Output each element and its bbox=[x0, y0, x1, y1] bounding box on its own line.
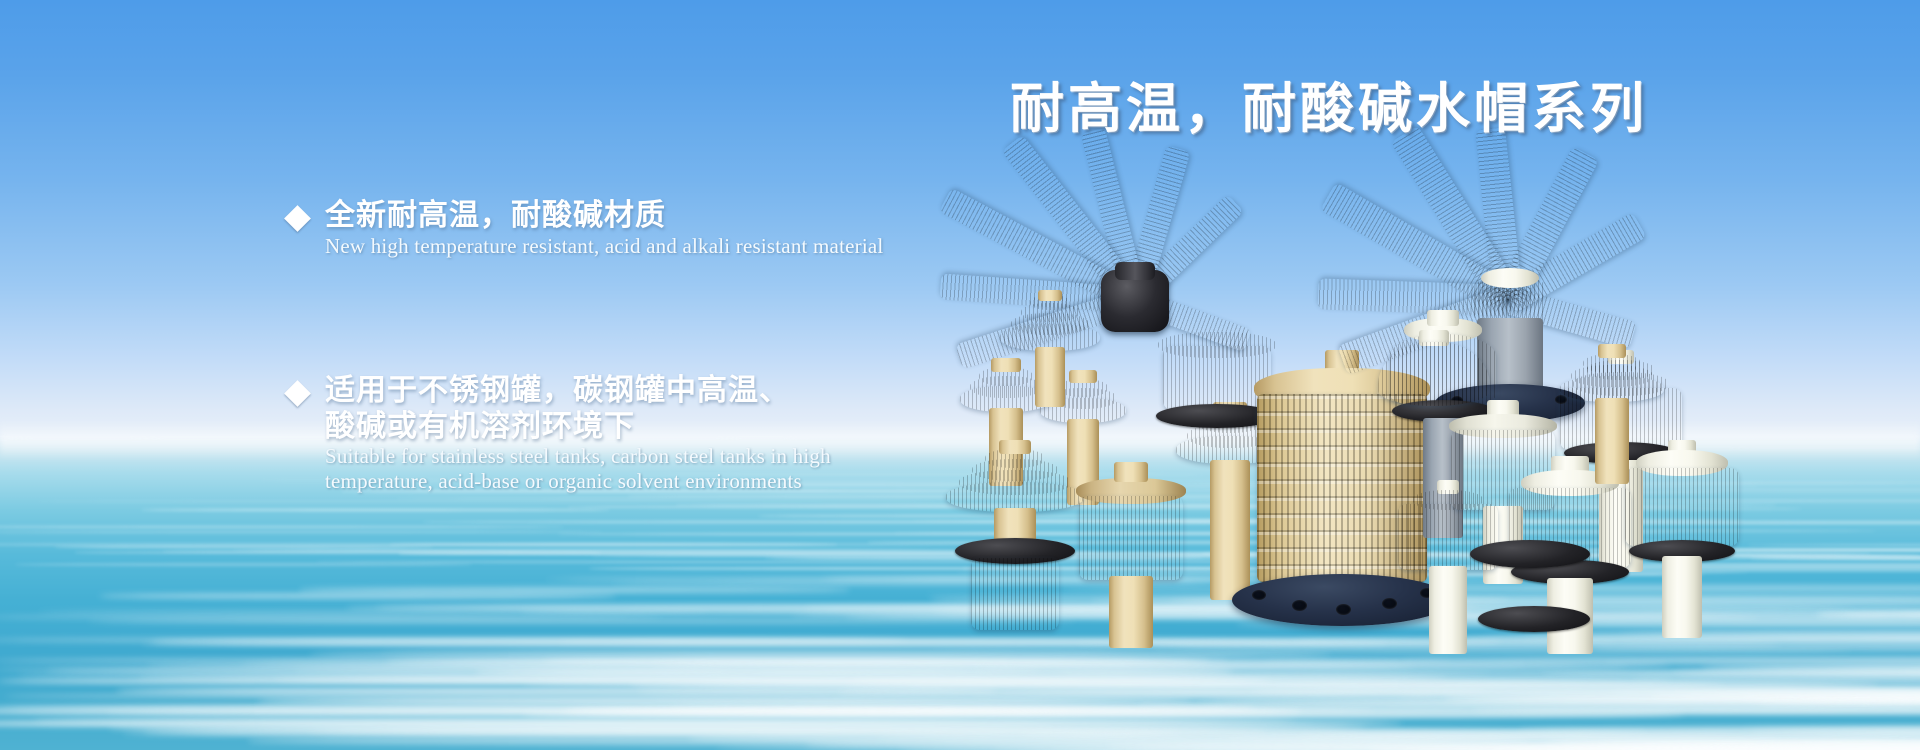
bullet-1-cn-line-1: 全新耐高温，耐酸碱材质 bbox=[325, 200, 883, 232]
bullet-2-cn-line-2: 酸碱或有机溶剂环境下 bbox=[325, 411, 831, 443]
rubber-gasket-ring bbox=[1478, 606, 1590, 634]
bullet-item-2: 适用于不锈钢罐，碳钢罐中高温、 酸碱或有机溶剂环境下 Suitable for … bbox=[288, 375, 831, 492]
bullet-item-1: 全新耐高温，耐酸碱材质 New high temperature resista… bbox=[288, 200, 883, 257]
rubber-gasket-ring bbox=[1470, 540, 1590, 570]
cream-corrugated-arm-spider-assembly bbox=[1508, 300, 1512, 304]
bullet-2-en-line-2: temperature, acid-base or organic solven… bbox=[325, 470, 831, 492]
bullet-2-cn-line-1: 适用于不锈钢罐，碳钢罐中高温、 bbox=[325, 375, 831, 407]
diamond-bullet-icon bbox=[284, 380, 311, 407]
white-slotted-tube-spider-assembly bbox=[1135, 300, 1139, 304]
cream-bell-nozzle bbox=[1378, 330, 1490, 450]
tan-ribbed-umbrella-nozzle bbox=[946, 438, 1084, 638]
tan-conical-filter-nozzle bbox=[1000, 290, 1100, 430]
spider-hub-cap bbox=[1115, 262, 1155, 280]
spider-hub-cap bbox=[1481, 268, 1539, 288]
page-title: 耐高温，耐酸碱水帽系列 bbox=[1010, 64, 1648, 143]
diamond-bullet-icon bbox=[284, 205, 311, 232]
tan-ribbed-drum-nozzle bbox=[1076, 462, 1186, 652]
bullet-1-en-line-1: New high temperature resistant, acid and… bbox=[325, 235, 883, 257]
bullet-2-en-line-1: Suitable for stainless steel tanks, carb… bbox=[325, 445, 831, 467]
tan-conical-filter-nozzle bbox=[1560, 340, 1664, 490]
product-banner: 耐高温，耐酸碱水帽系列 全新耐高温，耐酸碱材质 New high tempera… bbox=[0, 0, 1920, 750]
